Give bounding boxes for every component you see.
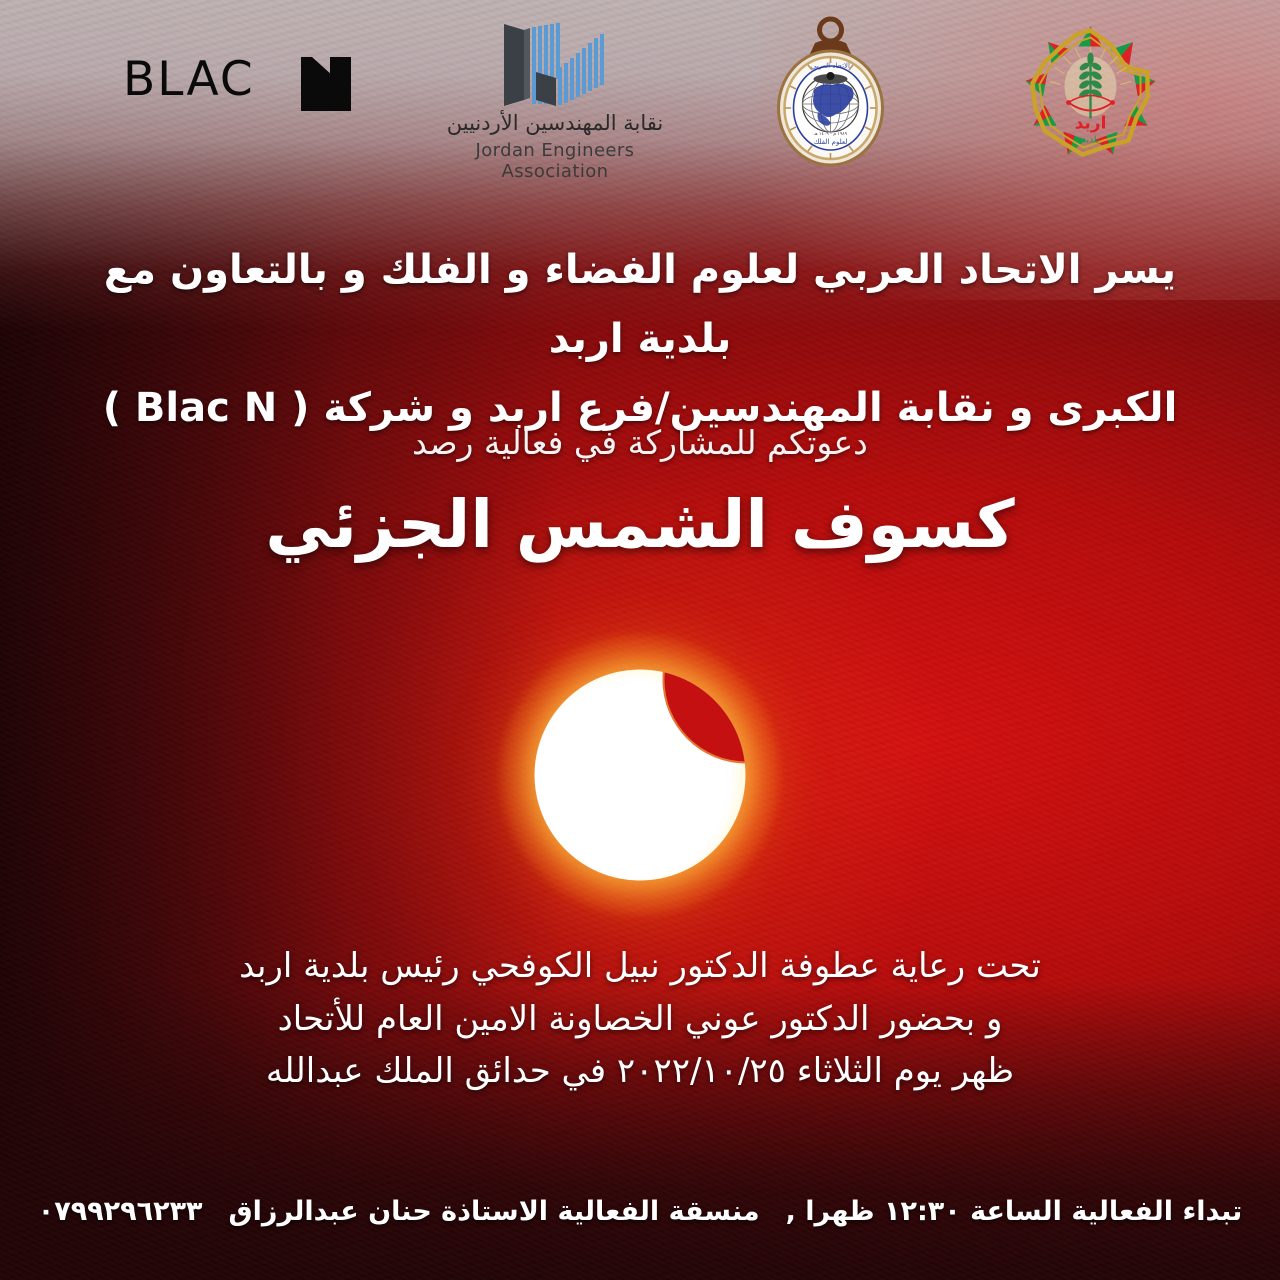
svg-text:لعلوم الفلك: لعلوم الفلك	[814, 138, 848, 146]
medal-year-text: ١٩٨٩ م - ١٤٠٩ هـ	[813, 132, 848, 137]
footer-bar: تبداء الفعالية الساعة ١٢:٣٠ ظهرا , منسقة…	[16, 1196, 1264, 1227]
headline-block: يسر الاتحاد العربي لعلوم الفضاء و الفلك …	[60, 236, 1220, 442]
event-details-block: تحت رعاية عطوفة الدكتور نبيل الكوفحي رئي…	[60, 940, 1220, 1098]
partial-solar-eclipse-photo	[500, 635, 780, 915]
irbid-sub-label: بلدية	[1082, 136, 1100, 146]
details-line-patronage: تحت رعاية عطوفة الدكتور نبيل الكوفحي رئي…	[60, 940, 1220, 993]
jea-arabic-label: نقابة المهندسين الأردنيين	[440, 112, 670, 135]
sun-disc	[535, 670, 746, 881]
arab-union-medal-logo: لعلوم الفلك الاتحاد العربي ١٩٨٩ م - ١٤٠٩…	[768, 16, 893, 168]
details-line-attendance: و بحضور الدكتور عوني الخصاونة الامين الع…	[60, 993, 1220, 1046]
logo-bar: BLAC	[0, 0, 1280, 185]
blac-wordmark: BLAC	[123, 56, 255, 103]
irbid-municipality-emblem: اربد بلدية	[1018, 20, 1163, 165]
jordan-engineers-association-logo: نقابة المهندسين الأردنيين Jordan Enginee…	[440, 20, 670, 165]
footer-start-time: تبداء الفعالية الساعة ١٢:٣٠ ظهرا ,	[786, 1196, 1243, 1227]
page-title: كسوف الشمس الجزئي	[60, 482, 1220, 568]
blac-n-square-icon	[301, 57, 351, 111]
invitation-text: دعوتكم للمشاركة في فعالية رصد	[60, 422, 1220, 465]
footer-phone: ٠٧٩٩٢٩٦٢٣٣	[38, 1196, 203, 1227]
jea-k-building-icon	[490, 20, 615, 108]
eclipse-event-poster: BLAC	[0, 0, 1280, 1280]
details-line-date-location: ظهر يوم الثلاثاء ٢٠٢٢/١٠/٢٥ في حدائق الم…	[60, 1045, 1220, 1098]
moon-shadow-bite	[663, 670, 746, 764]
headline-line-1: يسر الاتحاد العربي لعلوم الفضاء و الفلك …	[60, 236, 1220, 374]
footer-coordinator: منسقة الفعالية الاستاذة حنان عبدالرزاق	[229, 1196, 760, 1227]
irbid-center-label: اربد	[1075, 114, 1107, 134]
svg-text:الاتحاد العربي: الاتحاد العربي	[811, 62, 850, 70]
jea-english-label: Jordan Engineers Association	[440, 140, 670, 182]
blac-logo: BLAC	[123, 56, 353, 116]
